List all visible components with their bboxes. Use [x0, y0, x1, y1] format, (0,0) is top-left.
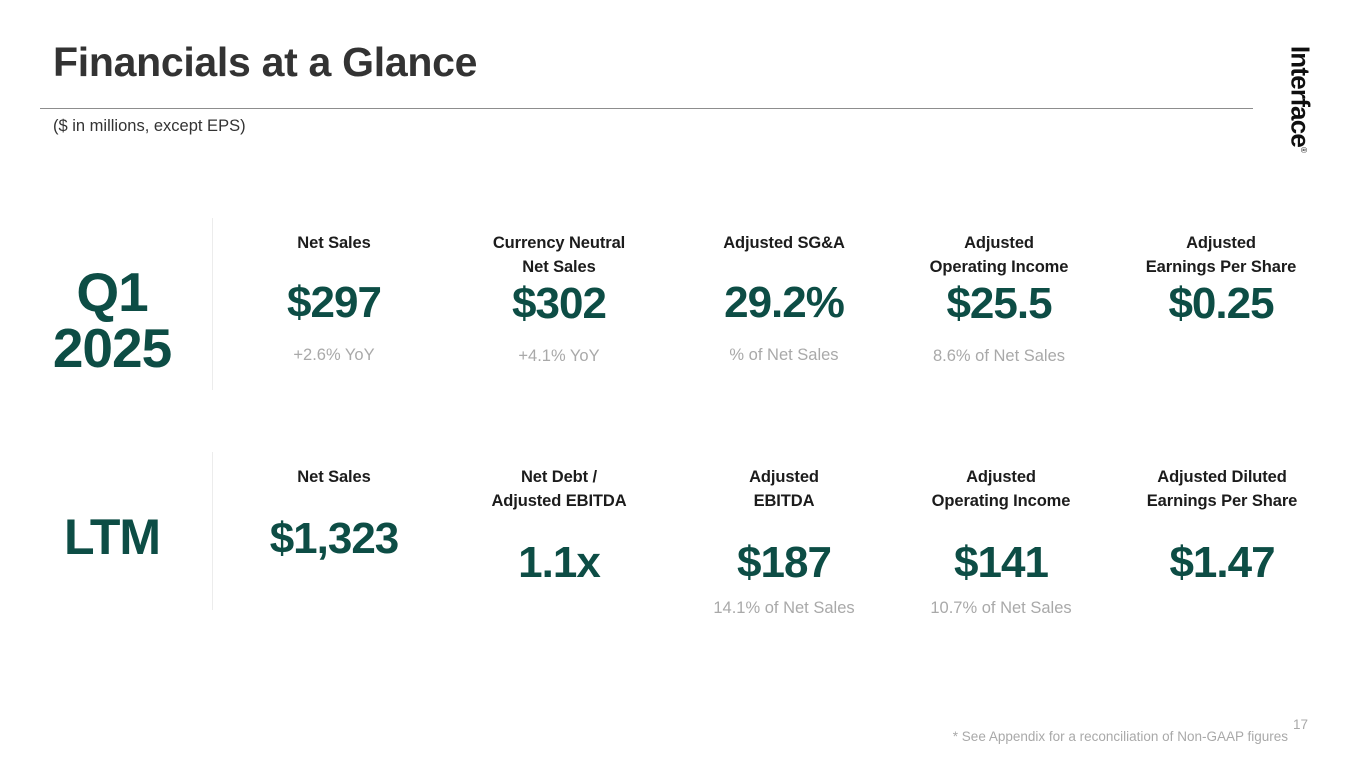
metric-heading: Adjusted SG&A [659, 232, 909, 256]
metric-subtext: 10.7% of Net Sales [876, 598, 1126, 619]
row-label-line2: 2025 [22, 320, 202, 376]
row-label-line1: LTM [22, 512, 202, 563]
metric-heading-line2: Adjusted EBITDA [434, 490, 684, 514]
metric-heading-line2: Earnings Per Share [1096, 256, 1346, 280]
metric-heading-line1: Adjusted [876, 466, 1126, 490]
title-divider-rule [40, 108, 1253, 109]
metric-heading: Adjusted Operating Income [876, 466, 1126, 514]
metric-heading: Adjusted Operating Income [874, 232, 1124, 280]
metric-value: $1.47 [1097, 541, 1347, 585]
registered-trademark-icon: ® [1299, 147, 1308, 152]
metric-row-ltm: LTM Net Sales $1,323 Net Debt / Adjusted… [0, 452, 1365, 610]
metric-heading-line2: Operating Income [874, 256, 1124, 280]
row-label-ltm: LTM [22, 512, 202, 563]
metric-value: $1,323 [209, 517, 459, 561]
metric-heading-line2: Net Sales [434, 256, 684, 280]
metric-value: $0.25 [1096, 282, 1346, 326]
metric-heading-line1: Net Sales [209, 232, 459, 256]
metric-heading: Adjusted Diluted Earnings Per Share [1097, 466, 1347, 514]
row-label-q1-2025: Q1 2025 [22, 264, 202, 376]
metric-heading-line1: Net Debt / [434, 466, 684, 490]
metric-ltm-adjusted-diluted-eps: Adjusted Diluted Earnings Per Share $1.4… [1097, 466, 1347, 598]
metric-adjusted-earnings-per-share: Adjusted Earnings Per Share $0.25 [1096, 232, 1346, 346]
metric-value: 1.1x [434, 541, 684, 585]
metric-heading-line1: Net Sales [209, 466, 459, 490]
metric-subtext: +4.1% YoY [434, 346, 684, 367]
metric-heading: Net Debt / Adjusted EBITDA [434, 466, 684, 514]
units-subtitle: ($ in millions, except EPS) [53, 117, 246, 136]
metric-value: 29.2% [659, 281, 909, 325]
metric-value: $297 [209, 281, 459, 325]
metric-subtext: 8.6% of Net Sales [874, 346, 1124, 367]
metric-heading-line1: Adjusted Diluted [1097, 466, 1347, 490]
metric-heading-line2: Earnings Per Share [1097, 490, 1347, 514]
interface-logo: Interface® [1283, 35, 1317, 163]
metric-ltm-net-debt-to-adjusted-ebitda: Net Debt / Adjusted EBITDA 1.1x [434, 466, 684, 598]
metric-heading-line1: Adjusted [874, 232, 1124, 256]
metric-heading-line2: EBITDA [659, 490, 909, 514]
metric-subtext: 14.1% of Net Sales [659, 598, 909, 619]
metric-heading: Adjusted EBITDA [659, 466, 909, 514]
metric-adjusted-sgna: Adjusted SG&A 29.2% % of Net Sales [659, 232, 909, 366]
metric-heading-line1: Currency Neutral [434, 232, 684, 256]
metric-subtext: +2.6% YoY [209, 345, 459, 366]
metric-net-sales: Net Sales $297 +2.6% YoY [209, 232, 459, 366]
page-number: 17 [1293, 717, 1308, 732]
metric-subtext: % of Net Sales [659, 345, 909, 366]
row-label-line1: Q1 [22, 264, 202, 320]
metric-ltm-adjusted-ebitda: Adjusted EBITDA $187 14.1% of Net Sales [659, 466, 909, 619]
metric-heading-line2: Operating Income [876, 490, 1126, 514]
metric-adjusted-operating-income: Adjusted Operating Income $25.5 8.6% of … [874, 232, 1124, 367]
logo-wordmark: Interface® [1285, 46, 1316, 152]
metric-heading-line1: Adjusted [659, 466, 909, 490]
metric-heading-line1: Adjusted [1096, 232, 1346, 256]
metric-value: $187 [659, 541, 909, 585]
metric-row-q1-2025: Q1 2025 Net Sales $297 +2.6% YoY Currenc… [0, 218, 1365, 390]
metric-heading: Net Sales [209, 232, 459, 256]
metric-currency-neutral-net-sales: Currency Neutral Net Sales $302 +4.1% Yo… [434, 232, 684, 367]
page-title: Financials at a Glance [53, 40, 477, 85]
metric-ltm-net-sales: Net Sales $1,323 [209, 466, 459, 574]
footnote-non-gaap: * See Appendix for a reconciliation of N… [953, 729, 1288, 744]
metric-ltm-adjusted-operating-income: Adjusted Operating Income $141 10.7% of … [876, 466, 1126, 619]
metric-heading: Adjusted Earnings Per Share [1096, 232, 1346, 280]
metric-heading-line1: Adjusted SG&A [659, 232, 909, 256]
metric-heading: Net Sales [209, 466, 459, 490]
metric-value: $25.5 [874, 282, 1124, 326]
logo-wordmark-text: Interface [1286, 46, 1316, 147]
metric-value: $302 [434, 282, 684, 326]
metric-heading: Currency Neutral Net Sales [434, 232, 684, 280]
metric-value: $141 [876, 541, 1126, 585]
